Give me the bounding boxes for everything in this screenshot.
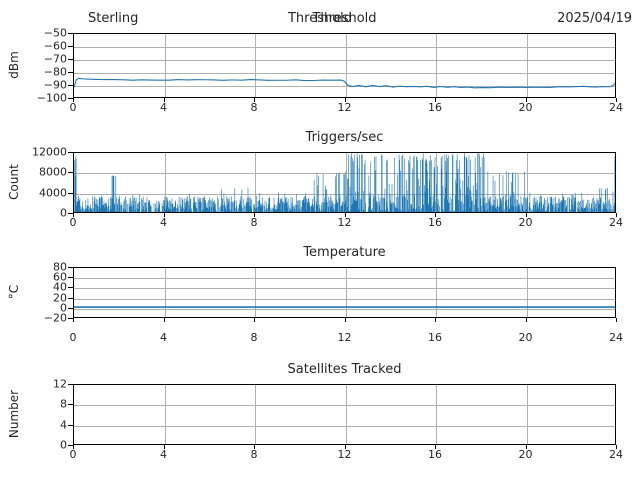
- y-tick-mark: [68, 193, 73, 194]
- x-tick-label: 16: [428, 101, 442, 114]
- figure-canvas: Sterling Threshold 2025/04/19 Threshold−…: [0, 0, 640, 480]
- y-tick-mark: [68, 277, 73, 278]
- panel-title: Satellites Tracked: [73, 362, 616, 377]
- trace-threshold: [74, 78, 616, 88]
- x-tick-label: 16: [428, 448, 442, 461]
- x-tick-label: 24: [609, 448, 623, 461]
- y-tick-mark: [68, 287, 73, 288]
- x-tick-label: 8: [251, 101, 258, 114]
- x-tick-label: 12: [338, 448, 352, 461]
- y-axis-label: Count: [7, 147, 21, 217]
- panel-title: Temperature: [73, 245, 616, 260]
- panel-title: Threshold: [73, 11, 616, 26]
- y-tick-mark: [68, 298, 73, 299]
- y-tick-mark: [68, 59, 73, 60]
- plot-area: [73, 33, 616, 98]
- x-tick-label: 0: [70, 448, 77, 461]
- x-tick-label: 4: [160, 331, 167, 344]
- y-tick-mark: [68, 152, 73, 153]
- data-series: [74, 385, 616, 445]
- y-tick-mark: [68, 384, 73, 385]
- x-tick-label: 0: [70, 216, 77, 229]
- data-series: [74, 34, 616, 98]
- data-series: [74, 153, 616, 213]
- x-tick-label: 12: [338, 216, 352, 229]
- x-tick-label: 0: [70, 101, 77, 114]
- x-tick-label: 12: [338, 101, 352, 114]
- y-axis-label: Number: [7, 379, 21, 449]
- y-tick-mark: [68, 33, 73, 34]
- y-tick-mark: [68, 172, 73, 173]
- x-tick-label: 4: [160, 216, 167, 229]
- plot-area: [73, 152, 616, 213]
- x-tick-mark: [73, 318, 74, 322]
- y-tick-mark: [68, 85, 73, 86]
- x-tick-label: 24: [609, 331, 623, 344]
- plot-area: [73, 267, 616, 318]
- x-tick-label: 12: [338, 331, 352, 344]
- x-tick-mark: [254, 318, 255, 322]
- y-tick-mark: [68, 267, 73, 268]
- x-tick-mark: [345, 318, 346, 322]
- x-tick-label: 20: [519, 101, 533, 114]
- trigger-bars: [74, 153, 616, 213]
- x-tick-label: 16: [428, 331, 442, 344]
- y-tick-mark: [68, 72, 73, 73]
- x-tick-label: 20: [519, 448, 533, 461]
- plot-area: [73, 384, 616, 445]
- y-tick-mark: [68, 308, 73, 309]
- x-tick-label: 8: [251, 448, 258, 461]
- x-tick-label: 4: [160, 101, 167, 114]
- data-series: [74, 268, 616, 318]
- y-axis-label: °C: [7, 257, 21, 327]
- y-tick-label: 12000: [32, 146, 73, 159]
- x-tick-mark: [435, 318, 436, 322]
- x-tick-mark: [526, 318, 527, 322]
- x-tick-label: 24: [609, 216, 623, 229]
- x-tick-label: 8: [251, 331, 258, 344]
- x-tick-mark: [164, 318, 165, 322]
- x-tick-label: 0: [70, 331, 77, 344]
- x-tick-label: 20: [519, 331, 533, 344]
- y-tick-mark: [68, 425, 73, 426]
- panel-title: Triggers/sec: [73, 130, 616, 145]
- y-tick-mark: [68, 404, 73, 405]
- x-tick-label: 4: [160, 448, 167, 461]
- x-tick-label: 24: [609, 101, 623, 114]
- x-tick-mark: [616, 318, 617, 322]
- x-tick-label: 8: [251, 216, 258, 229]
- x-tick-label: 20: [519, 216, 533, 229]
- y-tick-mark: [68, 46, 73, 47]
- x-tick-label: 16: [428, 216, 442, 229]
- y-axis-label: dBm: [7, 30, 21, 100]
